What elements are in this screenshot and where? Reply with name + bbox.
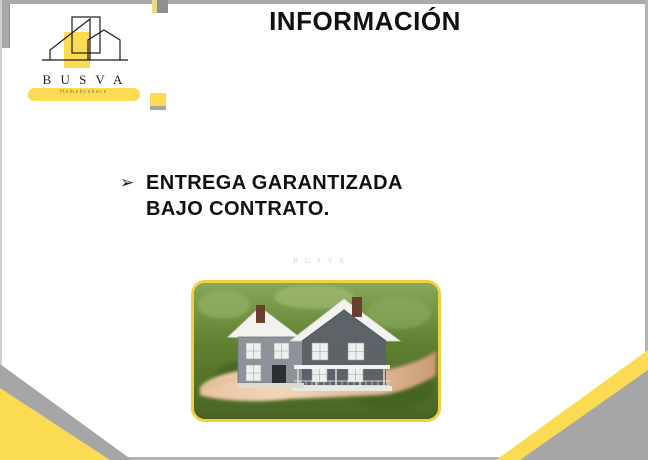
busva-logo: B U S V A Homebrokers [28,14,140,102]
bullet-text: ENTREGA GARANTIZADA BAJO CONTRATO. [146,170,403,222]
house-in-hand-photo [191,280,441,422]
busva-watermark: B U S V A [240,257,400,265]
busva-house-logo-mark-icon [28,14,140,74]
corner-decoration-bottom-right [468,350,648,460]
slide-title: INFORMACIÓN [150,6,580,37]
decorative-square-middle [150,93,166,106]
left-edge-accent-bar [2,4,10,48]
slide-frame-top [0,0,648,4]
decorative-square-middle-shadow [150,106,166,110]
corner-decoration-bottom-left [0,350,170,460]
presentation-slide: B U S V A Homebrokers INFORMACIÓN ➢ ENTR… [0,0,648,460]
arrow-bullet-icon: ➢ [120,170,146,196]
busva-tagline: Homebrokers [28,89,140,95]
busva-wordmark: B U S V A [28,72,140,88]
bullet-item: ➢ ENTREGA GARANTIZADA BAJO CONTRATO. [120,170,540,222]
